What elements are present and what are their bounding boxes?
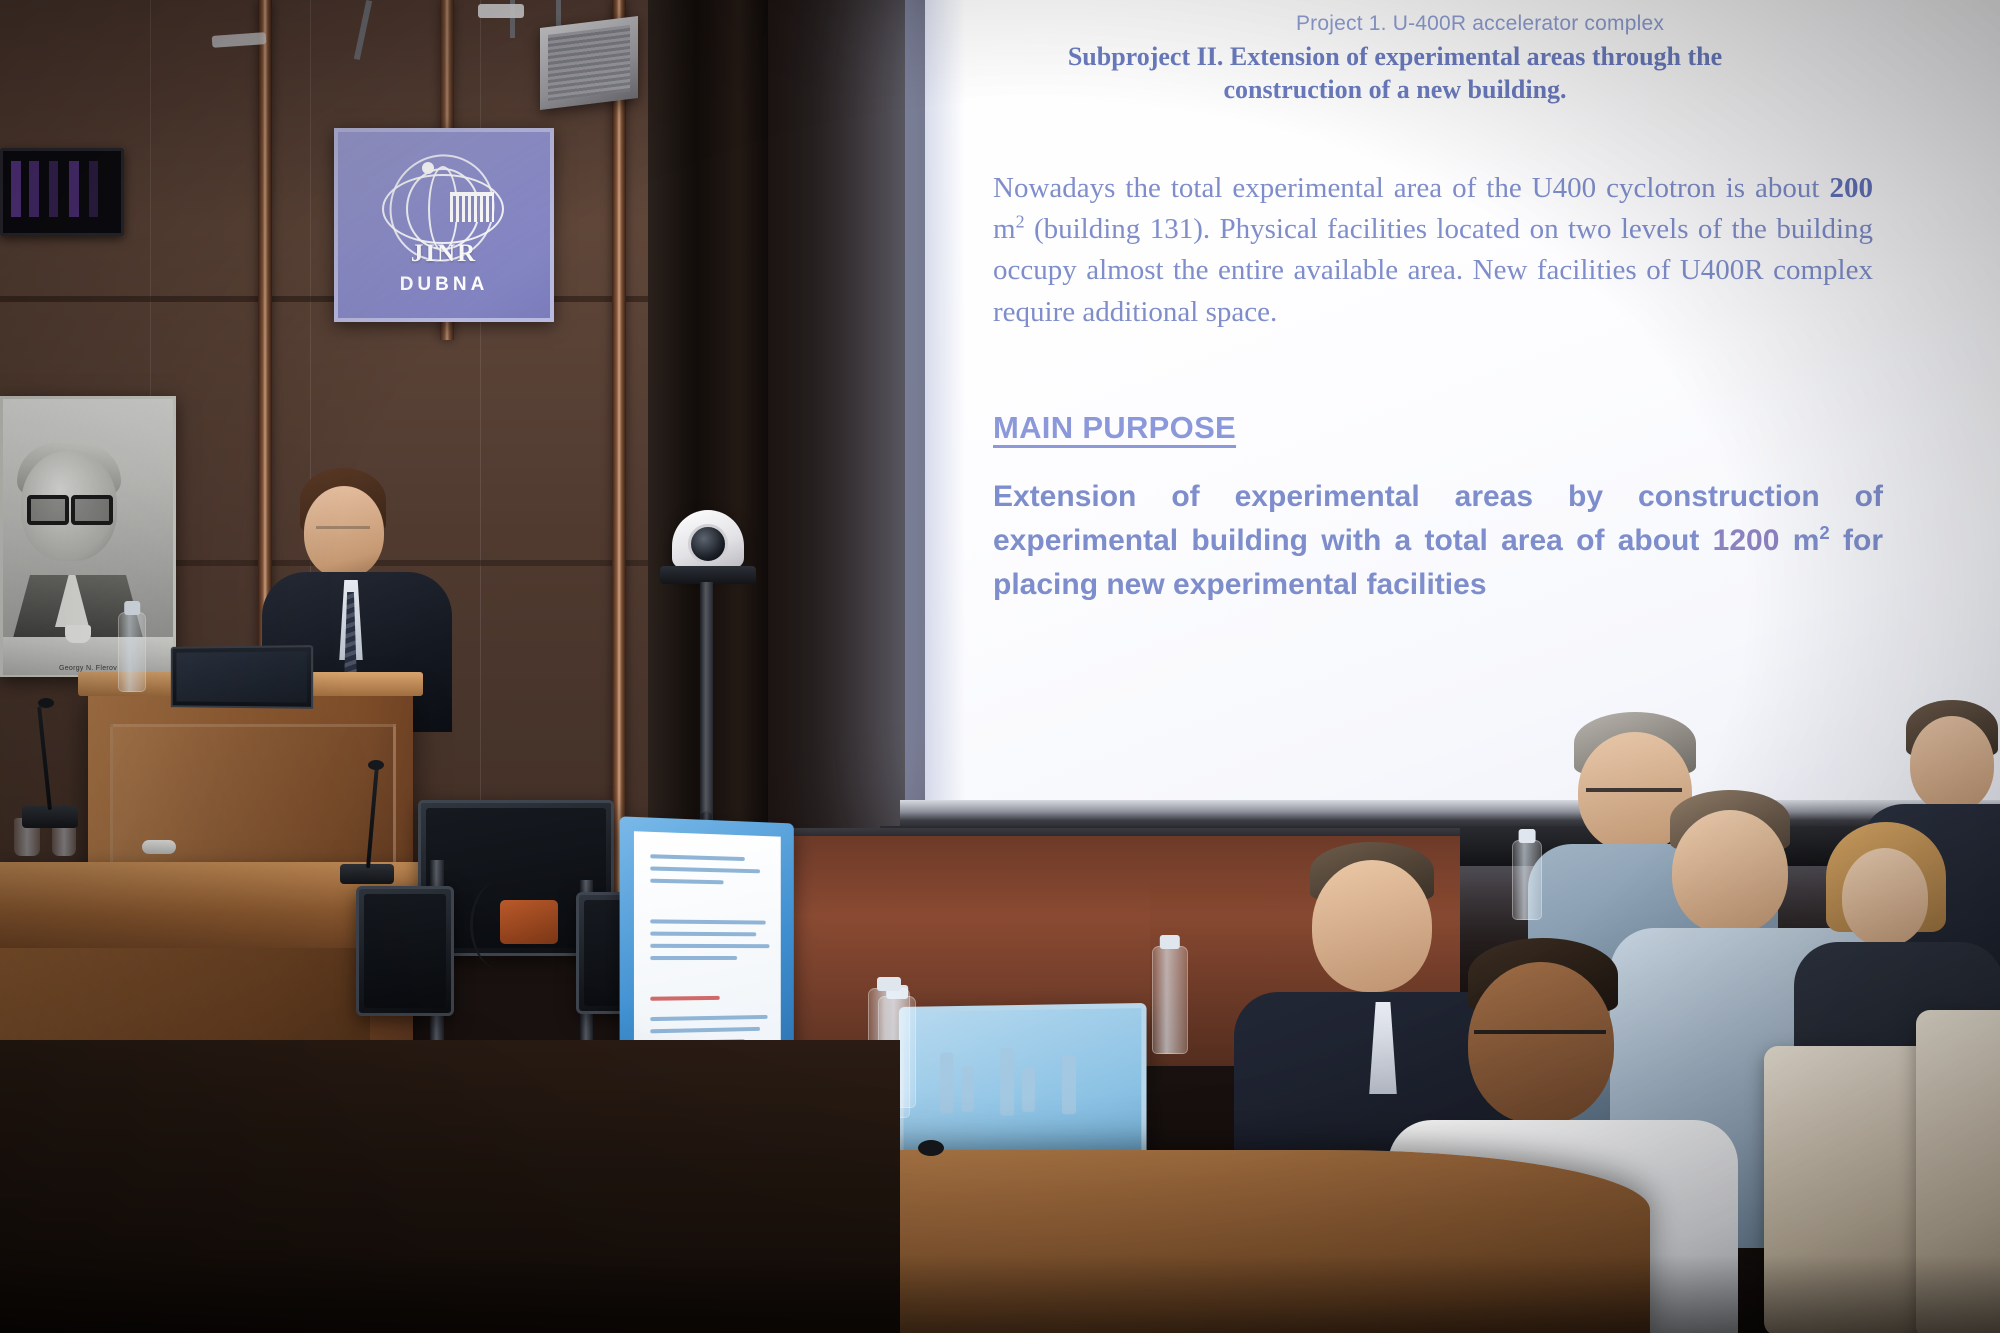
microphone-head — [38, 698, 54, 708]
slide-title-line1: Subproject II. Extension of experimental… — [1068, 42, 1722, 71]
paragraph-part2: (building 131). Physical facilities loca… — [993, 213, 1873, 327]
av-speaker-face — [364, 894, 446, 1008]
microphone-head — [918, 1140, 944, 1156]
tripod-column — [700, 582, 713, 822]
jinr-logo-sign: JINR DUBNA — [334, 128, 554, 322]
paragraph-superscript: 2 — [1016, 212, 1025, 232]
slide-pretitle: Project 1. U-400R accelerator complex — [1110, 12, 1850, 36]
framed-portrait: Georgy N. Flerov — [0, 396, 176, 677]
wall-seam — [0, 296, 660, 302]
laptop-screen — [176, 651, 306, 702]
presentation-slide: Project 1. U-400R accelerator complex Su… — [925, 0, 2000, 800]
slide-title: Subproject II. Extension of experimental… — [945, 40, 1845, 107]
conference-room-photo: JINR DUBNA Georgy N. Flerov Project 1. U… — [0, 0, 2000, 1333]
wall-post — [612, 0, 626, 900]
purpose-number: 1200 — [1713, 524, 1780, 557]
wall-monitor — [0, 148, 124, 236]
speaker-eyes — [316, 526, 370, 529]
portrait-glasses — [27, 495, 113, 517]
av-cable — [470, 880, 533, 970]
portrait-caption: Georgy N. Flerov — [3, 665, 173, 672]
sign-city: DUBNA — [338, 274, 550, 296]
presenter-laptop[interactable] — [171, 645, 313, 709]
slide-main-purpose-heading: MAIN PURPOSE — [993, 410, 1236, 446]
slide-title-line2: construction of a new building. — [1223, 75, 1566, 104]
purpose-superscript: 2 — [1819, 522, 1829, 543]
water-bottle[interactable] — [1512, 840, 1542, 920]
ceiling-speaker — [540, 16, 638, 110]
name-card — [142, 840, 176, 854]
portrait-cup — [65, 625, 91, 643]
paragraph-bold-value: 200 — [1830, 172, 1874, 204]
microphone-head — [368, 760, 384, 770]
speaker-grill — [548, 25, 630, 101]
paragraph-part1: Nowadays the total experimental area of … — [993, 172, 1830, 204]
speaker-head — [304, 486, 384, 578]
paragraph-unit: m — [993, 213, 1016, 245]
water-bottle[interactable] — [118, 612, 146, 692]
slide-purpose-text: Extension of experimental areas by const… — [993, 475, 1883, 607]
av-speaker-box — [356, 886, 454, 1016]
water-bottle[interactable] — [1152, 946, 1188, 1054]
foreground-shadow — [0, 1255, 2000, 1333]
slide-paragraph: Nowadays the total experimental area of … — [993, 168, 1873, 333]
sign-acronym: JINR — [338, 240, 550, 268]
purpose-unit: m — [1779, 524, 1819, 557]
ceiling-light — [478, 4, 524, 18]
camera-lens-icon — [688, 524, 728, 564]
